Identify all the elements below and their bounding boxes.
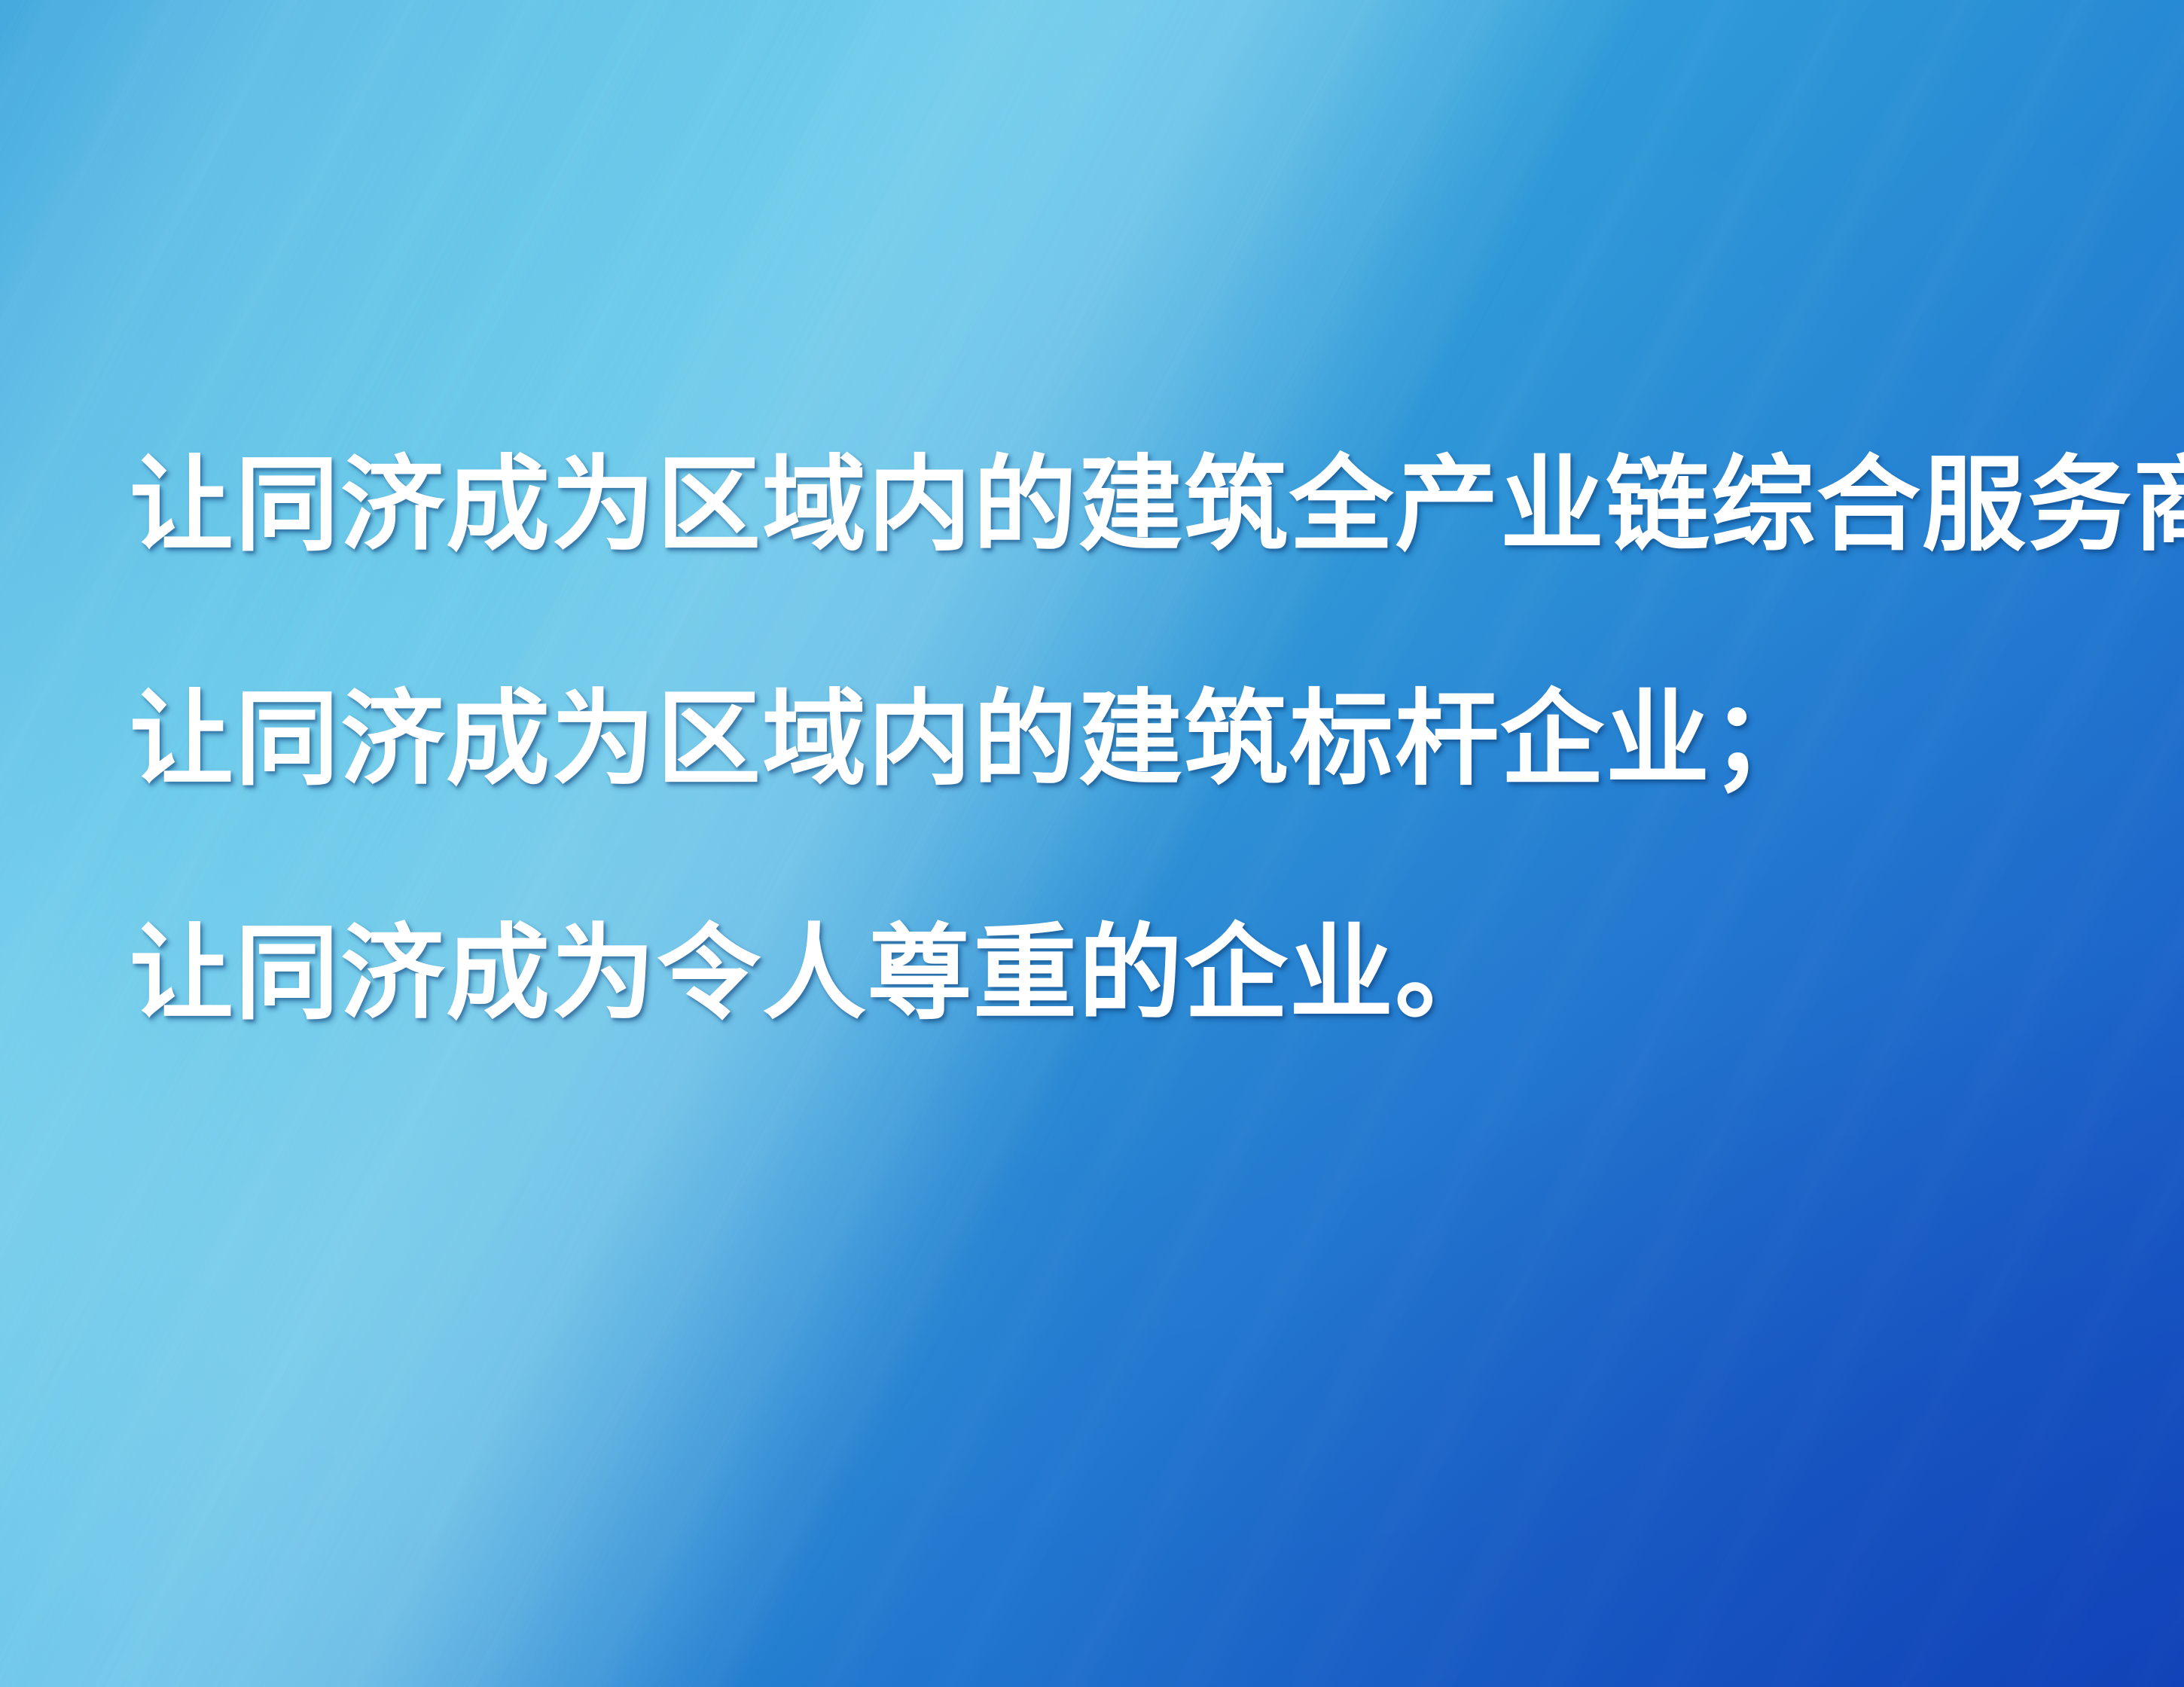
slide-text-block: 让同济成为区域内的建筑全产业链综合服务商； 让同济成为区域内的建筑标杆企业； 让…: [130, 452, 2088, 1026]
slide-text-line-3: 让同济成为令人尊重的企业。: [130, 920, 2088, 1027]
slide-text-line-1: 让同济成为区域内的建筑全产业链综合服务商；: [130, 452, 2088, 558]
presentation-slide: 让同济成为区域内的建筑全产业链综合服务商； 让同济成为区域内的建筑标杆企业； 让…: [0, 0, 2184, 1687]
slide-text-line-2: 让同济成为区域内的建筑标杆企业；: [130, 686, 2088, 792]
